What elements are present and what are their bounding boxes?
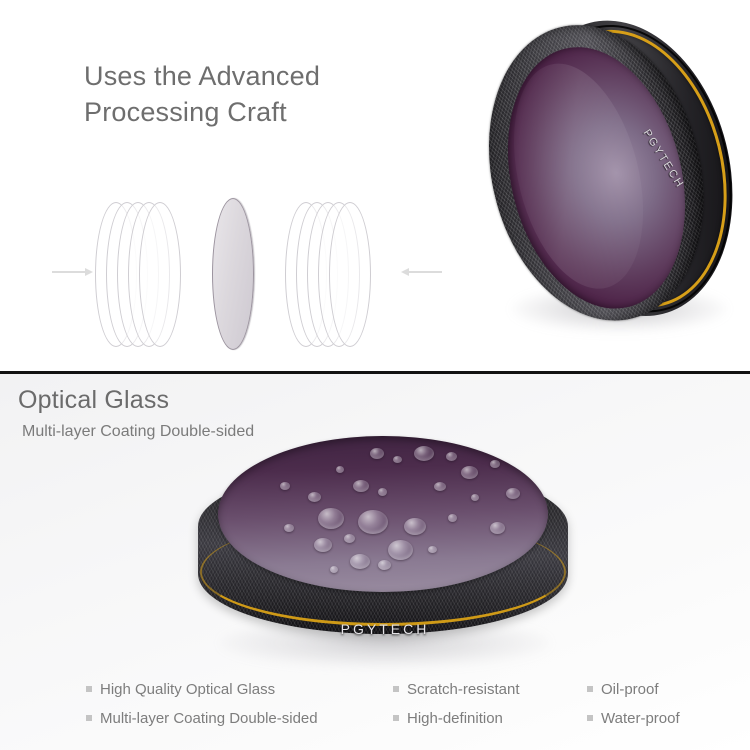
water-droplet [461,466,478,479]
water-droplet [314,538,332,552]
page-title: Uses the Advanced Processing Craft [84,58,414,130]
water-droplet [350,554,370,569]
water-droplet [344,534,355,543]
purple-optical-glass [218,436,548,592]
water-droplet [471,494,479,501]
brand-logo-text: PGYTECH [190,621,580,637]
coating-stack-left [95,185,215,365]
water-droplet [414,446,434,461]
lens-filter-waterdrop-photo: PGYTECH [190,426,580,676]
water-droplet [490,460,500,468]
water-droplet [388,540,413,560]
lens-filter-angled-photo: PGYTECH [487,14,737,344]
feature-label: Multi-layer Coating Double-sided [100,710,318,727]
water-droplet [446,452,457,461]
feature-item: Scratch-resistant [393,681,520,698]
feature-label: High Quality Optical Glass [100,681,275,698]
section-title: Optical Glass [18,386,169,415]
water-droplet [490,522,505,534]
feature-label: High-definition [407,710,503,727]
water-droplet [308,492,321,502]
feature-item: High Quality Optical Glass [86,681,275,698]
bullet-icon [587,686,593,692]
water-droplet [428,546,437,553]
water-droplet [378,488,387,496]
water-droplet [280,482,290,490]
bullet-icon [86,686,92,692]
bullet-icon [393,715,399,721]
water-droplet [370,448,384,459]
water-droplet [358,510,388,534]
water-droplet [404,518,426,535]
arrow-left-icon [408,271,442,273]
water-droplet [448,514,457,522]
bullet-icon [587,715,593,721]
bullet-icon [393,686,399,692]
water-droplet [378,560,391,570]
feature-label: Oil-proof [601,681,659,698]
feature-item: Oil-proof [587,681,659,698]
coating-layer [139,202,181,347]
coating-stack-right [285,185,405,365]
coating-layer [329,202,371,347]
arrow-right-icon [52,271,86,273]
optical-glass-core [212,198,254,350]
water-droplet [506,488,520,499]
water-droplet [330,566,338,573]
water-droplet [336,466,344,473]
feature-item: High-definition [393,710,503,727]
feature-label: Scratch-resistant [407,681,520,698]
feature-label: Water-proof [601,710,680,727]
feature-item: Multi-layer Coating Double-sided [86,710,318,727]
water-droplet [434,482,446,491]
bullet-icon [86,715,92,721]
filter-body: PGYTECH [452,0,750,359]
water-droplet [353,480,369,492]
water-droplet [318,508,344,529]
advanced-craft-panel: Uses the Advanced Processing Craft [0,0,750,372]
water-droplet [393,456,402,463]
coating-layers-diagram [40,185,460,365]
feature-item: Water-proof [587,710,680,727]
optical-glass-panel: Optical Glass Multi-layer Coating Double… [0,374,750,750]
water-droplet [284,524,294,532]
